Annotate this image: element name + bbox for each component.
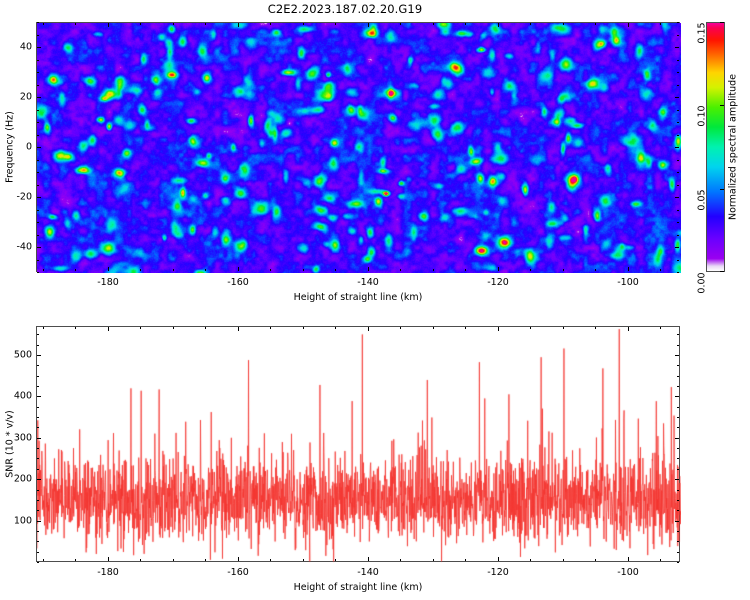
tick-minor-x: [43, 23, 44, 25]
tick-minor-y: [677, 35, 679, 36]
y-ticklabel: 100: [14, 516, 32, 527]
tick-minor-x: [400, 559, 401, 561]
x-ticklabel: -160: [227, 277, 249, 288]
colorbar-tick: [720, 271, 724, 272]
tick-major-x: [628, 23, 629, 27]
tick-major-y: [37, 47, 41, 48]
tick-minor-y: [677, 407, 679, 408]
tick-minor-x: [433, 559, 434, 561]
tick-minor-y: [677, 172, 679, 173]
y-ticklabel: 200: [14, 474, 32, 485]
tick-minor-x: [75, 559, 76, 561]
x-ticklabel: -100: [617, 277, 639, 288]
tick-minor-x: [173, 559, 174, 561]
tick-minor-y: [677, 345, 679, 346]
tick-major-x: [238, 267, 239, 271]
tick-major-y: [675, 355, 679, 356]
tick-major-x: [368, 557, 369, 561]
tick-major-x: [368, 23, 369, 27]
y-ticklabel: 0: [26, 142, 32, 153]
tick-minor-x: [75, 327, 76, 329]
tick-major-x: [108, 557, 109, 561]
tick-minor-y: [37, 386, 39, 387]
snr-line-plot: [37, 327, 681, 563]
spectrogram-y-axis-title: Frequency (Hz): [5, 111, 16, 183]
tick-minor-x: [465, 559, 466, 561]
tick-minor-x: [465, 327, 466, 329]
tick-minor-y: [37, 510, 39, 511]
tick-minor-y: [677, 122, 679, 123]
tick-minor-x: [465, 269, 466, 271]
tick-minor-x: [270, 327, 271, 329]
tick-minor-y: [37, 110, 39, 111]
tick-minor-y: [677, 490, 679, 491]
tick-minor-y: [37, 531, 39, 532]
snr-y-axis-title: SNR (10 * v/v): [5, 410, 16, 478]
tick-minor-x: [433, 269, 434, 271]
tick-minor-x: [660, 559, 661, 561]
tick-minor-y: [677, 365, 679, 366]
tick-major-y: [37, 147, 41, 148]
tick-major-y: [675, 438, 679, 439]
tick-minor-y: [37, 427, 39, 428]
tick-minor-x: [400, 327, 401, 329]
tick-major-x: [628, 557, 629, 561]
colorbar-ticklabel: 0.15: [697, 22, 708, 44]
tick-minor-y: [677, 500, 679, 501]
tick-minor-x: [595, 23, 596, 25]
tick-minor-y: [37, 345, 39, 346]
tick-minor-y: [677, 110, 679, 111]
tick-minor-x: [660, 269, 661, 271]
tick-minor-x: [335, 269, 336, 271]
tick-major-y: [37, 521, 41, 522]
tick-minor-x: [335, 23, 336, 25]
tick-minor-x: [660, 327, 661, 329]
y-ticklabel: 400: [14, 391, 32, 402]
tick-major-y: [675, 396, 679, 397]
tick-minor-y: [37, 334, 39, 335]
tick-minor-y: [37, 85, 39, 86]
tick-minor-y: [37, 562, 39, 563]
tick-minor-x: [43, 559, 44, 561]
colorbar-tick: [720, 22, 724, 23]
tick-minor-y: [677, 417, 679, 418]
x-ticklabel: -180: [97, 277, 119, 288]
tick-major-x: [238, 557, 239, 561]
tick-major-x: [238, 23, 239, 27]
tick-major-x: [498, 23, 499, 27]
page-title: C2E2.2023.187.02.20.G19: [0, 2, 690, 16]
tick-minor-y: [37, 22, 39, 23]
tick-minor-x: [140, 23, 141, 25]
tick-minor-y: [37, 185, 39, 186]
tick-major-x: [628, 267, 629, 271]
tick-minor-y: [677, 334, 679, 335]
tick-major-y: [675, 521, 679, 522]
colorbar-ticklabel: 0.00: [697, 272, 708, 294]
tick-minor-y: [37, 376, 39, 377]
tick-minor-x: [205, 23, 206, 25]
tick-minor-y: [677, 210, 679, 211]
tick-minor-x: [173, 327, 174, 329]
tick-minor-y: [37, 260, 39, 261]
tick-minor-y: [37, 458, 39, 459]
tick-major-x: [108, 327, 109, 331]
tick-minor-x: [400, 269, 401, 271]
tick-minor-y: [677, 260, 679, 261]
tick-minor-x: [43, 327, 44, 329]
tick-minor-y: [37, 72, 39, 73]
x-ticklabel: -140: [357, 277, 379, 288]
tick-minor-x: [140, 559, 141, 561]
tick-minor-x: [335, 327, 336, 329]
tick-major-y: [675, 147, 679, 148]
tick-minor-y: [37, 235, 39, 236]
figure-root: C2E2.2023.187.02.20.G19 -180-160-140-120…: [0, 0, 750, 600]
tick-minor-y: [37, 541, 39, 542]
tick-minor-x: [400, 23, 401, 25]
colorbar-ticklabel: 0.05: [697, 189, 708, 211]
tick-major-y: [37, 438, 41, 439]
tick-major-x: [108, 23, 109, 27]
tick-minor-x: [563, 559, 564, 561]
tick-minor-x: [75, 23, 76, 25]
tick-minor-y: [677, 60, 679, 61]
tick-major-x: [368, 267, 369, 271]
tick-minor-x: [270, 23, 271, 25]
tick-minor-y: [37, 172, 39, 173]
y-ticklabel: 40: [20, 42, 32, 53]
tick-minor-x: [335, 559, 336, 561]
tick-major-y: [675, 47, 679, 48]
spectrogram-image: [37, 23, 681, 273]
tick-minor-y: [37, 365, 39, 366]
tick-major-x: [238, 327, 239, 331]
tick-minor-y: [677, 541, 679, 542]
tick-major-x: [498, 557, 499, 561]
tick-minor-y: [37, 272, 39, 273]
tick-minor-x: [433, 327, 434, 329]
colorbar-axis-title: Normalized spectral amplitude: [728, 74, 739, 220]
tick-minor-x: [530, 559, 531, 561]
tick-minor-y: [677, 72, 679, 73]
tick-minor-x: [465, 23, 466, 25]
tick-minor-y: [677, 160, 679, 161]
y-ticklabel: -20: [16, 192, 32, 203]
tick-minor-x: [595, 269, 596, 271]
tick-minor-y: [677, 376, 679, 377]
tick-minor-y: [677, 235, 679, 236]
tick-major-y: [675, 97, 679, 98]
tick-minor-y: [677, 458, 679, 459]
tick-minor-y: [677, 562, 679, 563]
tick-major-x: [368, 327, 369, 331]
spectrogram-x-axis-title: Height of straight line (km): [294, 292, 423, 303]
tick-minor-x: [433, 23, 434, 25]
y-ticklabel: 300: [14, 433, 32, 444]
tick-minor-y: [677, 386, 679, 387]
tick-minor-x: [303, 559, 304, 561]
tick-minor-y: [37, 122, 39, 123]
tick-major-y: [37, 247, 41, 248]
tick-minor-x: [140, 327, 141, 329]
tick-major-y: [37, 355, 41, 356]
x-ticklabel: -180: [97, 567, 119, 578]
tick-minor-y: [677, 185, 679, 186]
colorbar-tick: [720, 189, 724, 190]
tick-minor-x: [303, 327, 304, 329]
tick-minor-x: [205, 559, 206, 561]
tick-minor-x: [205, 269, 206, 271]
tick-minor-x: [43, 269, 44, 271]
tick-minor-x: [173, 269, 174, 271]
spectrogram-axes: [36, 22, 680, 272]
x-ticklabel: -120: [487, 567, 509, 578]
x-ticklabel: -120: [487, 277, 509, 288]
tick-minor-y: [37, 210, 39, 211]
tick-minor-y: [677, 427, 679, 428]
tick-major-x: [108, 267, 109, 271]
snr-x-axis-title: Height of straight line (km): [294, 582, 423, 593]
tick-minor-y: [677, 22, 679, 23]
tick-minor-y: [37, 60, 39, 61]
tick-minor-y: [677, 272, 679, 273]
y-ticklabel: 20: [20, 92, 32, 103]
tick-minor-x: [530, 327, 531, 329]
tick-major-y: [37, 479, 41, 480]
tick-minor-y: [37, 135, 39, 136]
tick-major-y: [675, 479, 679, 480]
tick-minor-y: [677, 469, 679, 470]
snr-axes: [36, 326, 680, 562]
colorbar-ticklabel: 0.10: [697, 105, 708, 127]
tick-minor-x: [595, 327, 596, 329]
tick-minor-y: [677, 135, 679, 136]
tick-minor-x: [563, 269, 564, 271]
tick-minor-y: [37, 160, 39, 161]
x-ticklabel: -100: [617, 567, 639, 578]
y-ticklabel: 500: [14, 350, 32, 361]
colorbar-gradient: [707, 23, 724, 271]
tick-minor-x: [303, 269, 304, 271]
tick-minor-x: [303, 23, 304, 25]
tick-minor-x: [563, 327, 564, 329]
tick-minor-y: [677, 552, 679, 553]
x-ticklabel: -140: [357, 567, 379, 578]
tick-minor-x: [173, 23, 174, 25]
tick-minor-y: [677, 531, 679, 532]
tick-major-x: [628, 327, 629, 331]
tick-minor-y: [37, 417, 39, 418]
tick-minor-y: [37, 500, 39, 501]
tick-minor-y: [677, 222, 679, 223]
tick-minor-y: [677, 85, 679, 86]
tick-minor-y: [37, 552, 39, 553]
tick-major-y: [37, 396, 41, 397]
tick-major-x: [498, 267, 499, 271]
tick-minor-y: [677, 510, 679, 511]
tick-minor-y: [37, 35, 39, 36]
tick-minor-x: [270, 269, 271, 271]
x-ticklabel: -160: [227, 567, 249, 578]
tick-major-y: [37, 197, 41, 198]
tick-major-y: [37, 97, 41, 98]
tick-minor-y: [37, 448, 39, 449]
tick-major-y: [675, 247, 679, 248]
y-ticklabel: -40: [16, 242, 32, 253]
tick-minor-x: [75, 269, 76, 271]
tick-minor-y: [37, 222, 39, 223]
tick-minor-y: [37, 469, 39, 470]
colorbar-tick: [720, 105, 724, 106]
tick-minor-y: [677, 448, 679, 449]
tick-minor-x: [660, 23, 661, 25]
tick-minor-x: [530, 269, 531, 271]
tick-major-x: [498, 327, 499, 331]
tick-minor-x: [563, 23, 564, 25]
tick-major-y: [675, 197, 679, 198]
colorbar: [706, 22, 725, 272]
tick-minor-y: [37, 490, 39, 491]
tick-minor-x: [530, 23, 531, 25]
tick-minor-x: [140, 269, 141, 271]
tick-minor-y: [37, 407, 39, 408]
tick-minor-x: [595, 559, 596, 561]
tick-minor-x: [270, 559, 271, 561]
tick-minor-x: [205, 327, 206, 329]
